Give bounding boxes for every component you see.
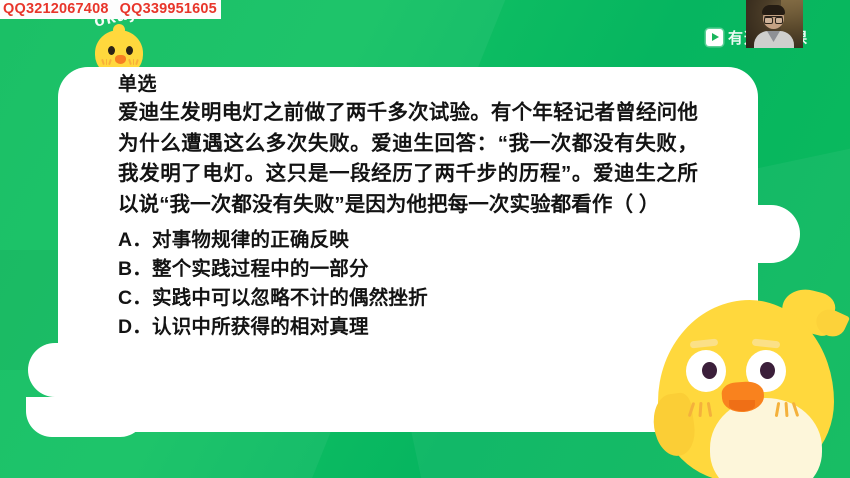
chick-mascot-large <box>630 288 850 478</box>
chick-pupil-left <box>702 362 717 379</box>
answer-option-d[interactable]: D． 认识中所获得的相对真理 <box>118 313 698 342</box>
chick-cheek-left <box>102 59 111 65</box>
card-edge-lobe <box>28 343 120 397</box>
webcam-person-hair <box>762 5 785 15</box>
qq-number-1: QQ3212067408 <box>3 0 109 19</box>
chick-pupil-right <box>760 362 775 379</box>
qq-watermark-bar: QQ3212067408 QQ339951605 <box>0 0 221 19</box>
option-label-c: C． <box>118 284 152 313</box>
chick-beak <box>115 55 126 64</box>
option-label-b: B． <box>118 255 152 284</box>
answer-option-a[interactable]: A． 对事物规律的正确反映 <box>118 226 698 255</box>
chick-cheek-right <box>129 59 138 65</box>
question-type-label: 单选 <box>118 72 698 97</box>
option-label-a: A． <box>118 226 152 255</box>
instructor-webcam[interactable] <box>746 0 803 48</box>
qq-number-2: QQ339951605 <box>120 0 217 19</box>
chick-cheek-left <box>690 402 716 417</box>
play-icon <box>706 29 723 46</box>
slide-canvas: 有道精品课 okay~ 单选 爱迪生发明电灯之前做了两千多次试验。有个年轻记者曾… <box>0 0 850 478</box>
glasses-icon <box>764 16 783 23</box>
option-text-c: 实践中可以忽略不计的偶然挫折 <box>152 284 428 313</box>
card-edge-notch <box>26 397 146 437</box>
answer-options-list: A． 对事物规律的正确反映 B． 整个实践过程中的一部分 C． 实践中可以忽略不… <box>118 226 698 342</box>
option-text-b: 整个实践过程中的一部分 <box>152 255 369 284</box>
card-edge-lobe <box>710 205 800 263</box>
option-text-d: 认识中所获得的相对真理 <box>152 313 369 342</box>
chick-eye-right <box>126 46 133 55</box>
option-text-a: 对事物规律的正确反映 <box>152 226 349 255</box>
answer-option-b[interactable]: B． 整个实践过程中的一部分 <box>118 255 698 284</box>
option-label-d: D． <box>118 313 152 342</box>
chick-eye-left <box>108 46 115 55</box>
question-stem: 爱迪生发明电灯之前做了两千多次试验。有个年轻记者曾经问他为什么遭遇这么多次失败。… <box>118 98 698 220</box>
question-content: 单选 爱迪生发明电灯之前做了两千多次试验。有个年轻记者曾经问他为什么遭遇这么多次… <box>118 72 698 342</box>
chick-cheek-right <box>776 402 802 417</box>
chick-beak-shadow <box>729 400 755 411</box>
answer-option-c[interactable]: C． 实践中可以忽略不计的偶然挫折 <box>118 284 698 313</box>
